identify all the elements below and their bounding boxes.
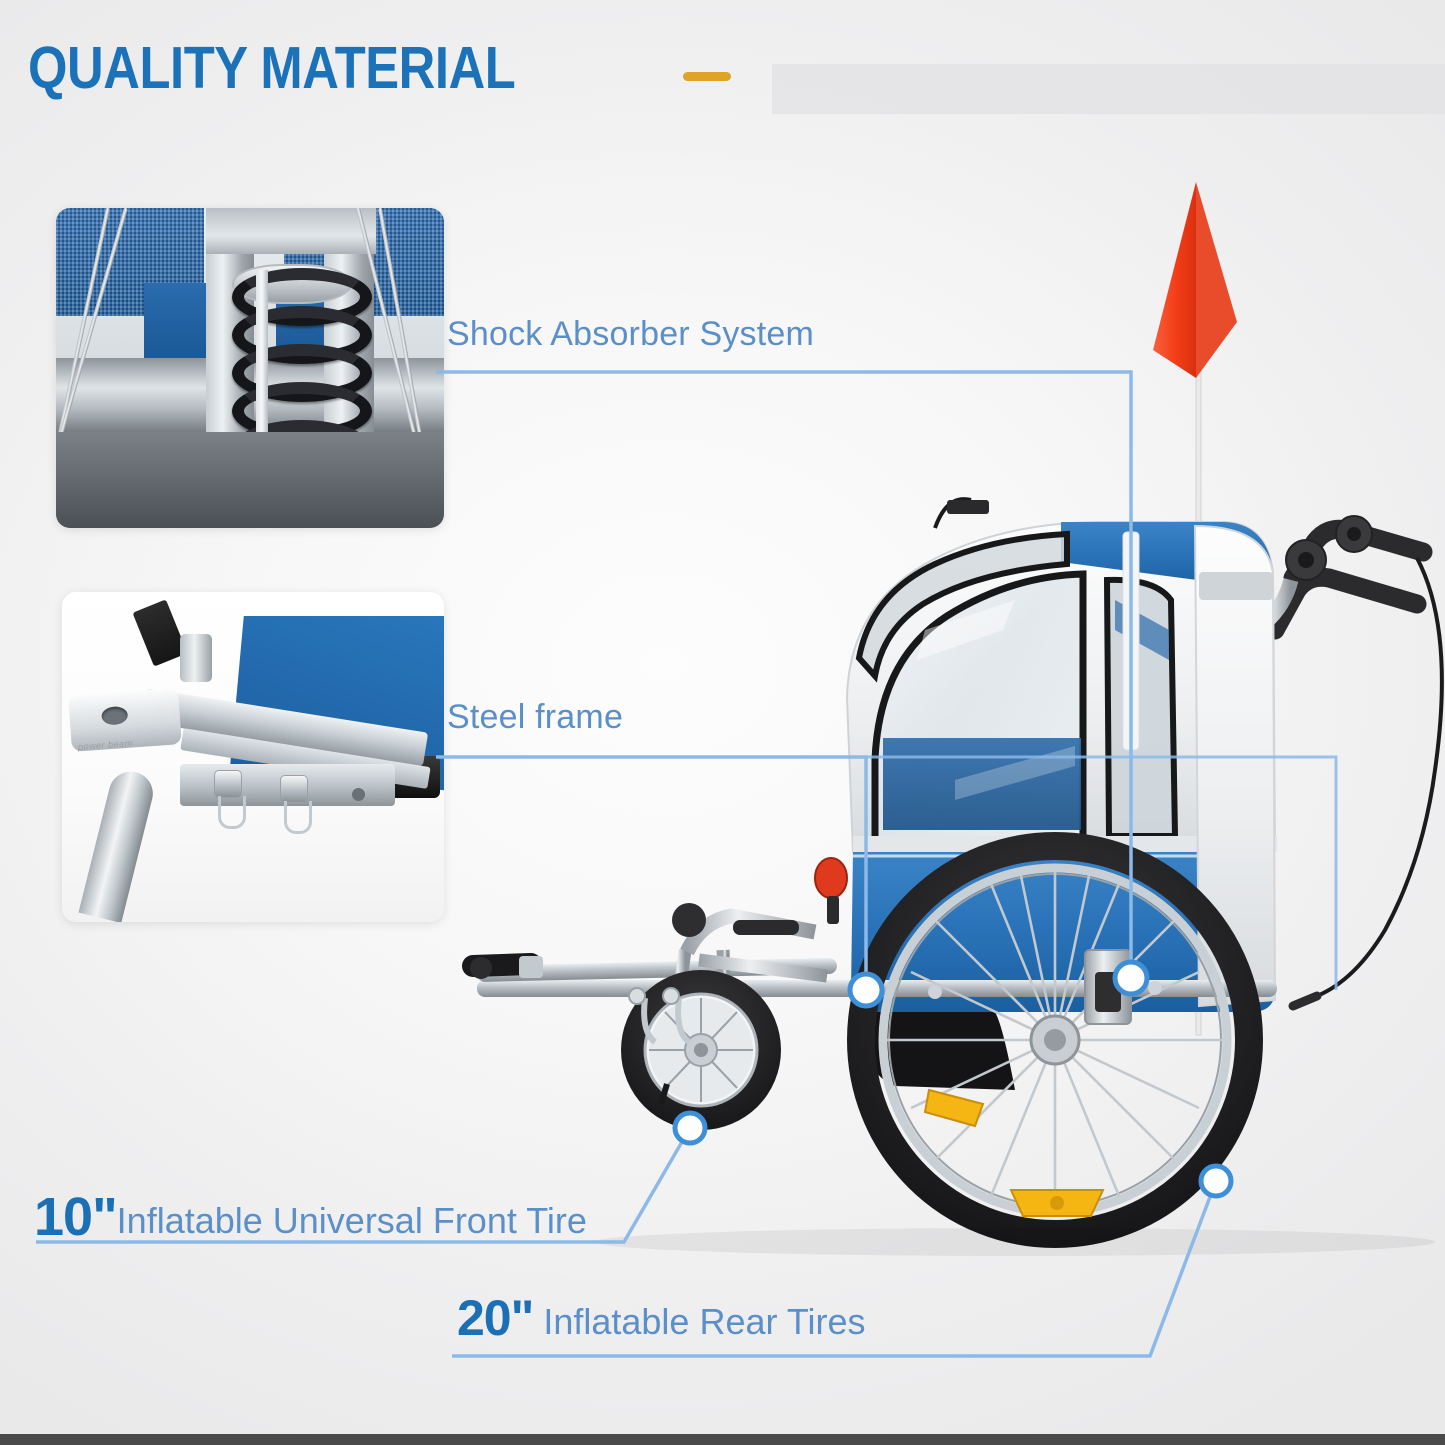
front-hub-center <box>694 1043 708 1057</box>
frame-rivet-2 <box>1148 981 1162 995</box>
front-swivel-cap <box>672 903 706 937</box>
callout-label-shock-absorber: Shock Absorber System <box>447 315 814 354</box>
inset-photo-steel-frame: power beam <box>62 592 444 922</box>
callout-label-front-tire: 10"Inflatable Universal Front Tire <box>34 1186 587 1248</box>
callout-label-steel-frame-text: Steel frame <box>447 698 623 736</box>
cable-end-ferrule <box>1293 996 1317 1006</box>
hitch-bolt-hole <box>101 706 128 726</box>
yellow-reflector-side <box>925 1090 983 1126</box>
yellow-reflector-bolt <box>1050 1196 1064 1210</box>
handlebar-pivot-2-center <box>1347 527 1361 541</box>
brake-cable <box>1317 558 1442 996</box>
red-reflector <box>815 858 847 898</box>
callout-label-shock-absorber-text: Shock Absorber System <box>447 315 814 353</box>
inset-photo-shock-absorber <box>56 208 444 528</box>
rear-tire-size: 20" <box>457 1290 533 1346</box>
frame-hole <box>352 788 365 801</box>
rear-axle-block <box>1095 972 1121 1012</box>
frame-rivet <box>928 985 942 999</box>
reflector-mount <box>827 896 839 924</box>
frame-top-bracket <box>206 208 376 254</box>
tow-coupler <box>519 956 543 978</box>
callout-label-rear-tire-text: Inflatable Rear Tires <box>543 1301 865 1342</box>
page-title: QUALITY MATERIAL <box>28 34 515 102</box>
callout-label-front-tire-text: Inflatable Universal Front Tire <box>117 1200 587 1241</box>
callout-label-rear-tire: 20"Inflatable Rear Tires <box>457 1289 865 1347</box>
photo-lower-shadow <box>56 432 444 528</box>
header-filler-block <box>772 64 1445 114</box>
safety-flag <box>1153 182 1196 378</box>
interior-hanging-strap <box>1123 532 1139 750</box>
bottom-bar <box>0 1434 1445 1445</box>
ground-shadow <box>595 1228 1435 1256</box>
safety-pin-1 <box>218 796 246 829</box>
rear-hub-center <box>1044 1029 1066 1051</box>
safety-flag-fold <box>1196 182 1237 378</box>
bolt-1 <box>214 770 242 798</box>
bolt-2 <box>280 775 308 803</box>
frame-clip-bolt-1 <box>629 988 645 1004</box>
frame-clip-bolt-2 <box>663 988 679 1004</box>
safety-pin-2 <box>284 801 312 834</box>
blue-fabric-inner-left <box>144 283 208 361</box>
handlebar-pivot-1-center <box>1298 552 1314 568</box>
canopy-top-clip <box>947 500 989 514</box>
rear-wheel-20in <box>861 846 1249 1234</box>
callout-label-steel-frame: Steel frame <box>447 698 623 737</box>
front-tire-size: 10" <box>34 1187 117 1247</box>
tow-bar-end-cap <box>470 957 492 979</box>
front-strut-sleeve <box>733 920 799 935</box>
title-dash-accent <box>683 72 731 81</box>
frame-clamp <box>180 634 212 682</box>
rear-panel-label <box>1199 572 1273 600</box>
